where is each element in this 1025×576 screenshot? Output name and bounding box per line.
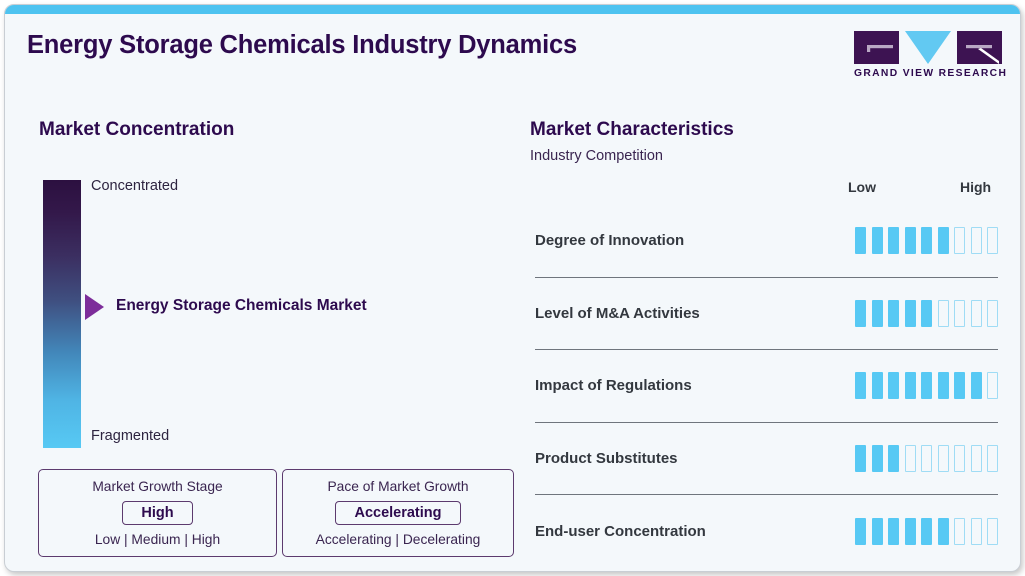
meter-segment-filled — [855, 372, 866, 399]
top-accent-bar — [5, 5, 1021, 14]
market-characteristics-title: Market Characteristics — [530, 119, 734, 141]
meter-segment-empty — [905, 445, 916, 472]
meter-segment-empty — [987, 445, 998, 472]
meter-segment-filled — [872, 518, 883, 545]
meter-segment-filled — [938, 372, 949, 399]
meter-segment-filled — [855, 445, 866, 472]
logo-wordmark: GRAND VIEW RESEARCH — [854, 68, 1002, 79]
gvr-logo-mark — [854, 31, 1002, 65]
pace-of-market-growth-box: Pace of Market Growth Accelerating Accel… — [282, 469, 514, 557]
meter-segment-filled — [888, 445, 899, 472]
characteristic-meter — [855, 227, 998, 254]
meter-segment-filled — [888, 372, 899, 399]
concentration-top-label: Concentrated — [91, 178, 178, 194]
characteristic-label: Degree of Innovation — [535, 232, 684, 249]
meter-segment-filled — [855, 227, 866, 254]
meter-segment-filled — [921, 227, 932, 254]
concentration-bottom-label: Fragmented — [91, 428, 169, 444]
meter-segment-filled — [872, 372, 883, 399]
meter-segment-empty — [971, 227, 982, 254]
meter-segment-filled — [921, 300, 932, 327]
characteristic-meter — [855, 300, 998, 327]
meter-segment-filled — [971, 372, 982, 399]
pace-of-market-growth-options: Accelerating | Decelerating — [316, 532, 481, 547]
meter-segment-filled — [921, 372, 932, 399]
market-growth-stage-value: High — [122, 501, 192, 525]
scale-high-label: High — [960, 179, 991, 195]
characteristic-row: Degree of Innovation — [535, 204, 998, 277]
meter-segment-empty — [954, 518, 965, 545]
meter-segment-filled — [872, 227, 883, 254]
market-characteristics-rows: Degree of InnovationLevel of M&A Activit… — [535, 204, 998, 567]
characteristic-row: Impact of Regulations — [535, 349, 998, 422]
meter-segment-empty — [987, 300, 998, 327]
meter-segment-filled — [954, 372, 965, 399]
meter-segment-empty — [938, 445, 949, 472]
meter-segment-empty — [954, 227, 965, 254]
meter-segment-filled — [888, 518, 899, 545]
market-growth-stage-caption: Market Growth Stage — [92, 479, 222, 494]
scale-low-label: Low — [848, 179, 876, 195]
market-position-arrow-icon — [85, 294, 104, 320]
meter-segment-empty — [987, 518, 998, 545]
characteristic-row: Product Substitutes — [535, 422, 998, 495]
meter-segment-filled — [888, 227, 899, 254]
characteristic-label: Product Substitutes — [535, 450, 678, 467]
meter-segment-empty — [921, 445, 932, 472]
characteristic-label: End-user Concentration — [535, 523, 706, 540]
meter-segment-empty — [954, 300, 965, 327]
characteristic-meter — [855, 518, 998, 545]
grand-view-research-logo: GRAND VIEW RESEARCH — [854, 31, 1002, 81]
meter-segment-filled — [905, 227, 916, 254]
meter-segment-empty — [971, 300, 982, 327]
meter-segment-filled — [905, 300, 916, 327]
meter-segment-empty — [938, 300, 949, 327]
market-concentration-title: Market Concentration — [39, 119, 234, 141]
meter-segment-filled — [872, 300, 883, 327]
meter-segment-filled — [938, 227, 949, 254]
pace-of-market-growth-value: Accelerating — [335, 501, 460, 525]
market-position-label: Energy Storage Chemicals Market — [116, 297, 367, 315]
market-growth-stage-box: Market Growth Stage High Low | Medium | … — [38, 469, 277, 557]
concentration-gradient-bar — [43, 180, 81, 448]
meter-segment-filled — [921, 518, 932, 545]
meter-segment-empty — [954, 445, 965, 472]
characteristic-row: End-user Concentration — [535, 494, 998, 567]
meter-segment-filled — [855, 518, 866, 545]
characteristic-row: Level of M&A Activities — [535, 277, 998, 350]
characteristic-label: Impact of Regulations — [535, 377, 692, 394]
infographic-card: Energy Storage Chemicals Industry Dynami… — [4, 4, 1021, 572]
meter-segment-filled — [905, 372, 916, 399]
meter-segment-filled — [905, 518, 916, 545]
market-characteristics-subtitle: Industry Competition — [530, 148, 663, 164]
meter-segment-filled — [888, 300, 899, 327]
market-growth-stage-options: Low | Medium | High — [95, 532, 220, 547]
characteristic-meter — [855, 445, 998, 472]
characteristic-label: Level of M&A Activities — [535, 305, 700, 322]
meter-segment-empty — [987, 372, 998, 399]
meter-segment-filled — [872, 445, 883, 472]
characteristic-meter — [855, 372, 998, 399]
pace-of-market-growth-caption: Pace of Market Growth — [327, 479, 468, 494]
meter-segment-filled — [938, 518, 949, 545]
meter-segment-empty — [971, 445, 982, 472]
page-title: Energy Storage Chemicals Industry Dynami… — [27, 31, 577, 60]
meter-segment-empty — [971, 518, 982, 545]
meter-segment-empty — [987, 227, 998, 254]
meter-segment-filled — [855, 300, 866, 327]
